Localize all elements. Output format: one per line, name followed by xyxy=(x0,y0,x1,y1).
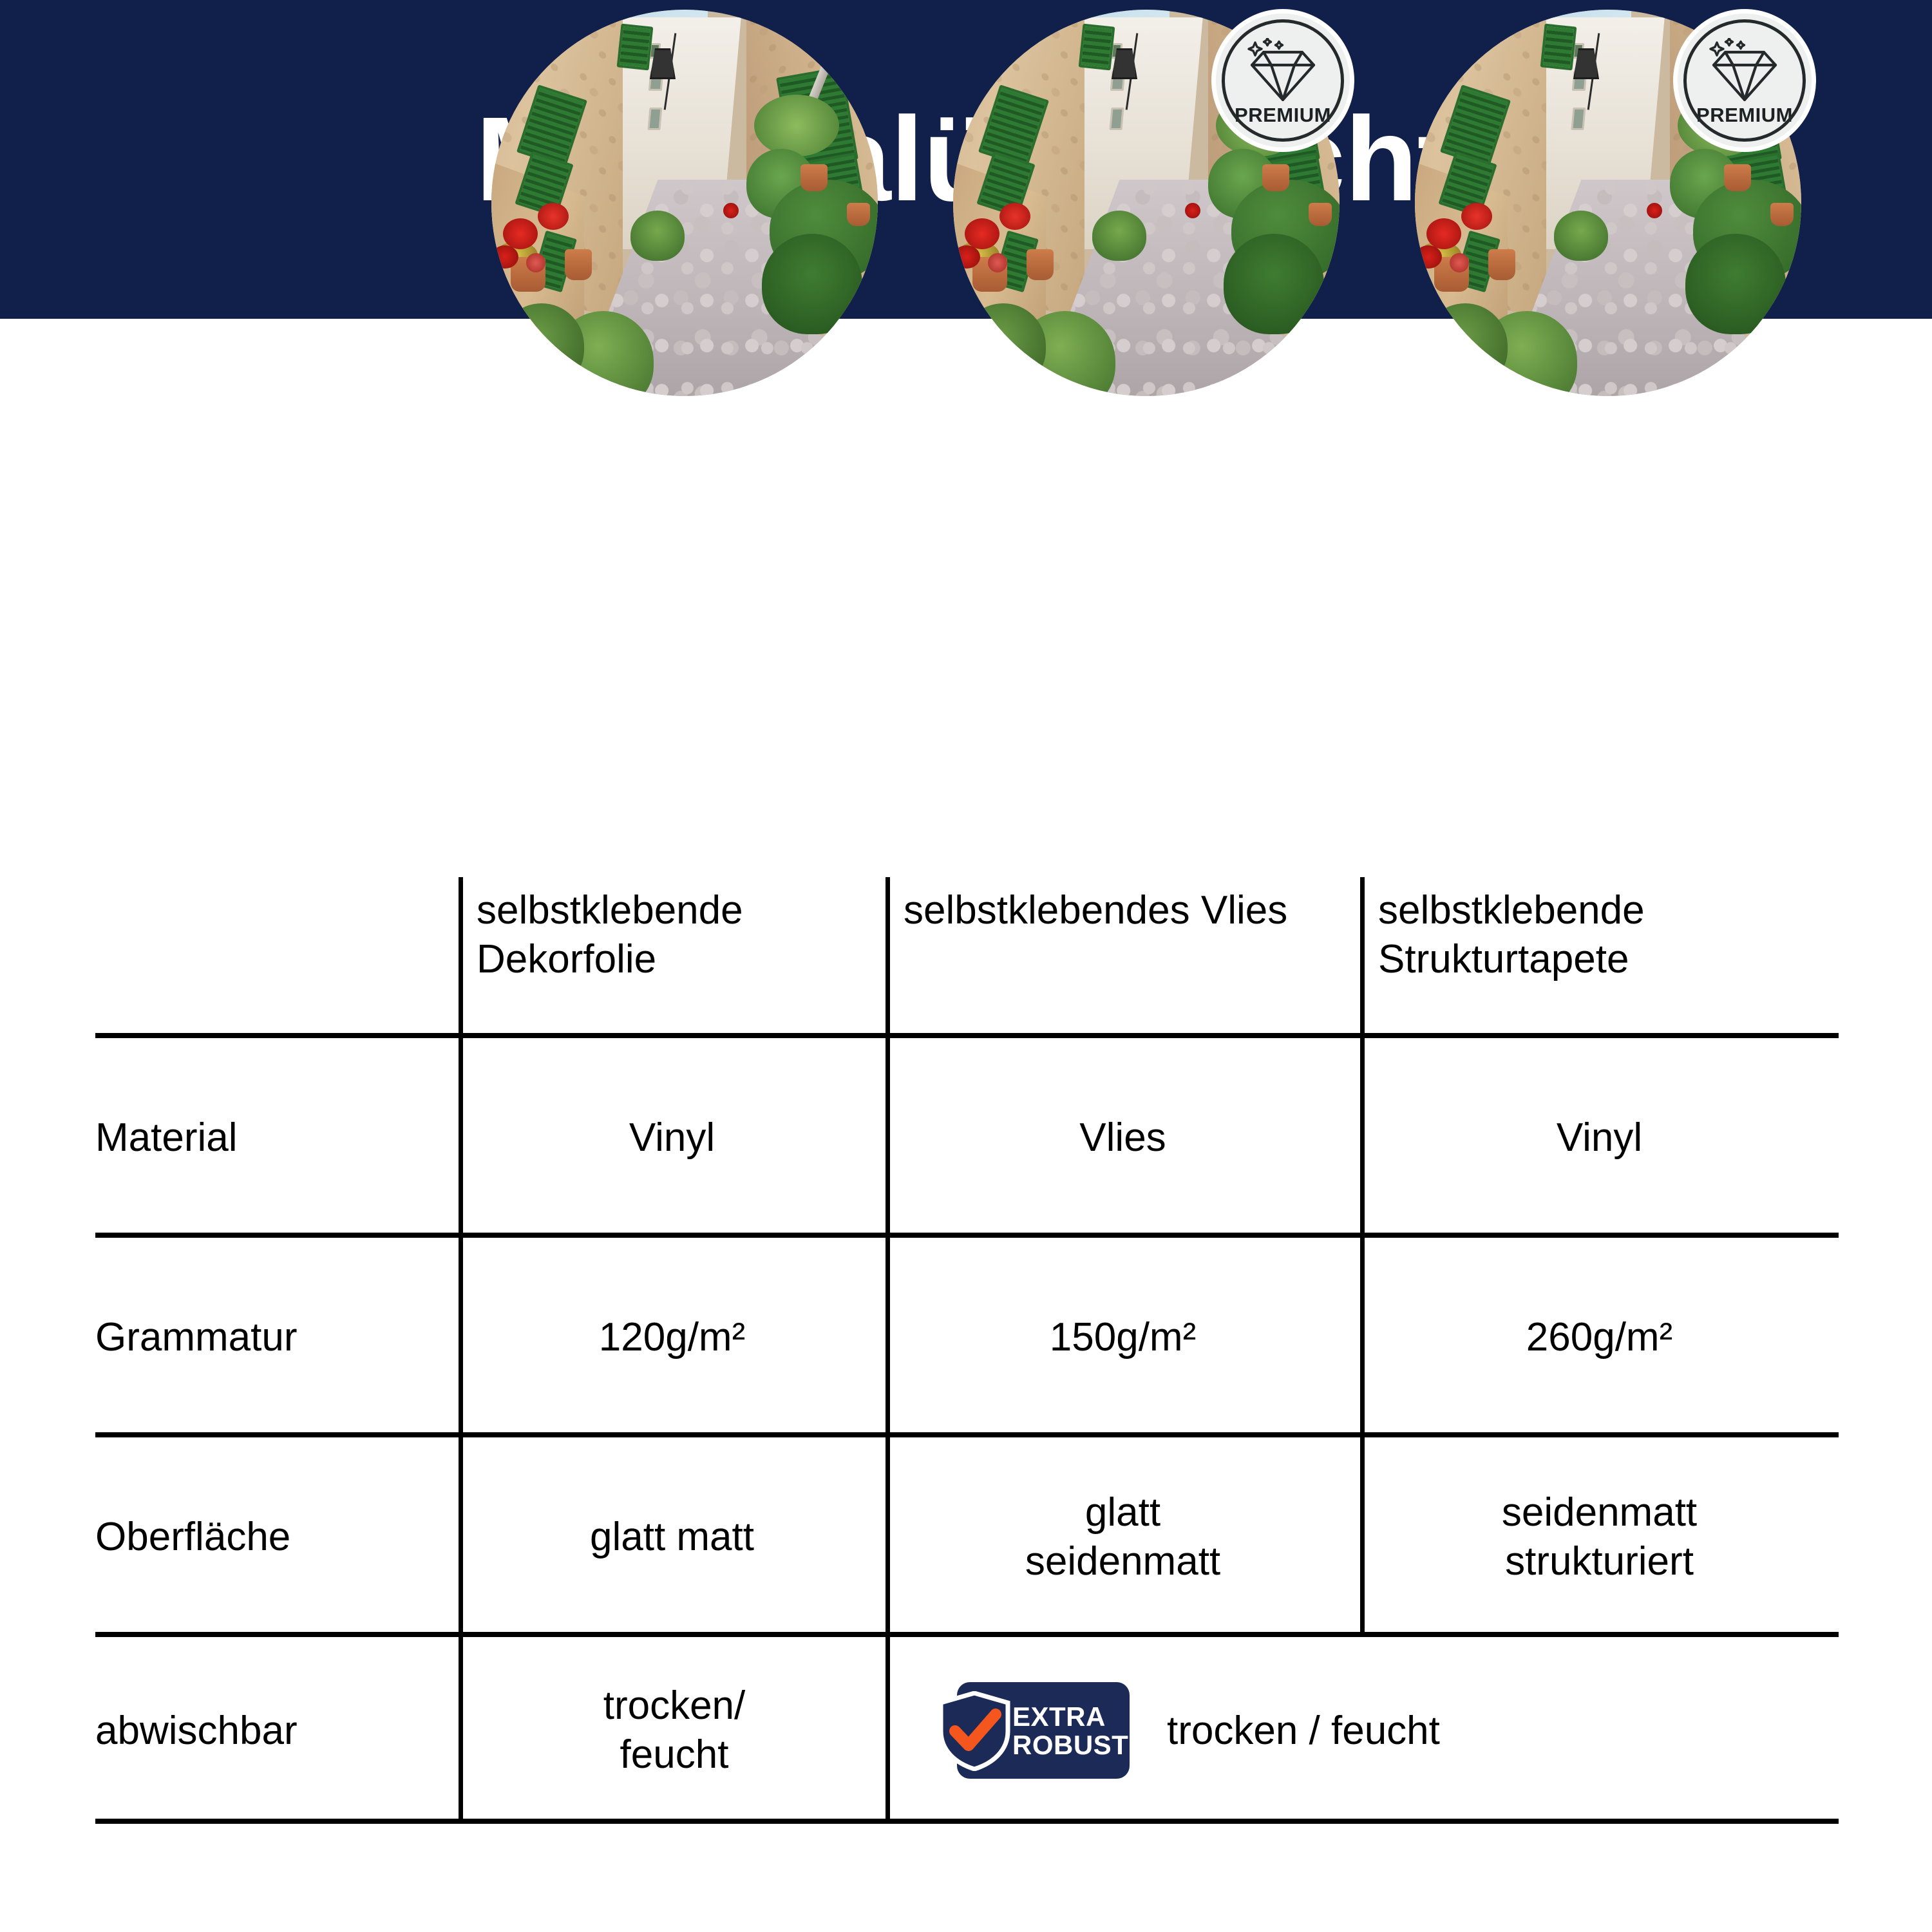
cell-grammatur-strukturtapete: 260g/m² xyxy=(1360,1238,1839,1437)
variant-preview-1[interactable] xyxy=(491,10,878,396)
cell-material-dekorfolie: Vinyl xyxy=(459,1038,885,1238)
column-divider xyxy=(885,877,890,1038)
plant xyxy=(762,234,862,334)
diamond-icon xyxy=(1244,38,1321,102)
red-flower xyxy=(988,253,1007,272)
extra-robust-line1: EXTRA xyxy=(1012,1703,1126,1731)
cell-oberflaeche-strukturtapete: seidenmattstrukturiert xyxy=(1360,1437,1839,1637)
plant xyxy=(1224,234,1324,334)
plant xyxy=(961,303,1046,388)
red-flower xyxy=(953,245,980,269)
column-divider xyxy=(459,1238,463,1437)
plant xyxy=(1685,234,1786,334)
column-header-strukturtapete: selbstklebende Strukturtapete xyxy=(1360,877,1839,1038)
cell-abwischbar-merged: EXTRA ROBUST trocken / feucht xyxy=(890,1637,1839,1824)
row-label-grammatur: Grammatur xyxy=(95,1238,459,1437)
red-flower xyxy=(965,218,999,249)
cell-abwischbar-dekorfolie: trocken/feucht xyxy=(463,1637,885,1824)
alleyway-photo-1 xyxy=(491,10,878,396)
plant xyxy=(1554,211,1608,261)
flower-pot xyxy=(847,203,870,226)
flower-pot xyxy=(1724,164,1751,191)
extra-robust-label: EXTRA ROBUST xyxy=(1012,1695,1126,1767)
window xyxy=(1110,108,1124,130)
material-comparison-table: selbstklebende Dekorfolie selbstklebende… xyxy=(95,877,1839,1824)
red-flower xyxy=(503,218,538,249)
table-row: Grammatur 120g/m² 150g/m² 260g/m² xyxy=(95,1238,1839,1437)
premium-badge-label: PREMIUM xyxy=(1235,104,1331,127)
red-flower xyxy=(1426,218,1461,249)
premium-badge-label: PREMIUM xyxy=(1696,104,1793,127)
flower-pot xyxy=(1027,249,1054,280)
column-divider xyxy=(459,1038,463,1238)
premium-badge: PREMIUM xyxy=(1216,14,1350,147)
shield-check-icon xyxy=(935,1691,1014,1771)
red-flower xyxy=(491,245,518,269)
column-divider xyxy=(1360,1238,1365,1437)
row-label-abwischbar: abwischbar xyxy=(95,1637,459,1824)
row-divider xyxy=(95,1233,1839,1238)
row-divider xyxy=(95,1632,1839,1637)
column-header-vlies: selbstklebendes Vlies xyxy=(885,877,1360,1038)
column-divider xyxy=(459,1637,463,1824)
material-overview-page: Materialübersicht xyxy=(0,0,1932,1932)
column-divider xyxy=(1360,877,1365,1038)
red-flower xyxy=(723,203,739,218)
green-shutter xyxy=(1540,24,1577,71)
plant xyxy=(499,303,584,388)
column-divider xyxy=(885,1038,890,1238)
window xyxy=(1571,108,1586,130)
column-divider xyxy=(459,1437,463,1637)
cell-oberflaeche-dekorfolie: glatt matt xyxy=(459,1437,885,1637)
cell-grammatur-vlies: 150g/m² xyxy=(885,1238,1360,1437)
extra-robust-badge: EXTRA ROBUST xyxy=(935,1682,1130,1779)
red-flower xyxy=(526,253,545,272)
plant xyxy=(1092,211,1146,261)
plant xyxy=(630,211,685,261)
flower-pot xyxy=(1309,203,1332,226)
flower-pot xyxy=(1262,164,1289,191)
table-row: Oberfläche glatt matt glattseidenmatt se… xyxy=(95,1437,1839,1637)
red-flower xyxy=(1450,253,1469,272)
table-row: Material Vinyl Vlies Vinyl xyxy=(95,1038,1839,1238)
plant xyxy=(1423,303,1508,388)
row-divider xyxy=(95,1033,1839,1038)
table-bottom-border xyxy=(95,1819,1839,1824)
cell-abwischbar-text: trocken / feucht xyxy=(1167,1708,1440,1754)
flower-pot xyxy=(565,249,592,280)
table-row: abwischbar trocken/feucht EXTRA ROBUST xyxy=(95,1637,1839,1824)
flower-pot xyxy=(800,164,828,191)
red-flower xyxy=(999,203,1030,230)
red-flower xyxy=(1185,203,1200,218)
table-header-row: selbstklebende Dekorfolie selbstklebende… xyxy=(95,877,1839,1038)
plant xyxy=(754,95,839,156)
table-corner-cell xyxy=(95,877,459,1038)
cell-material-strukturtapete: Vinyl xyxy=(1360,1038,1839,1238)
column-header-dekorfolie: selbstklebende Dekorfolie xyxy=(459,877,885,1038)
window xyxy=(648,108,663,130)
column-divider xyxy=(885,1637,890,1824)
extra-robust-line2: ROBUST xyxy=(1012,1731,1126,1759)
red-flower xyxy=(1415,245,1442,269)
flower-pot xyxy=(1770,203,1794,226)
variant-preview-3[interactable]: PREMIUM xyxy=(1415,10,1801,396)
red-flower xyxy=(538,203,569,230)
cell-material-vlies: Vlies xyxy=(885,1038,1360,1238)
cell-grammatur-dekorfolie: 120g/m² xyxy=(459,1238,885,1437)
row-label-material: Material xyxy=(95,1038,459,1238)
red-flower xyxy=(1461,203,1492,230)
diamond-icon xyxy=(1706,38,1783,102)
premium-badge: PREMIUM xyxy=(1678,14,1812,147)
column-divider xyxy=(885,1238,890,1437)
column-divider xyxy=(885,1437,890,1637)
cell-oberflaeche-vlies: glattseidenmatt xyxy=(885,1437,1360,1637)
variant-preview-strip: PREMIUM xyxy=(0,0,1932,412)
variant-preview-2[interactable]: PREMIUM xyxy=(953,10,1340,396)
row-divider xyxy=(95,1432,1839,1437)
column-divider xyxy=(1360,1437,1365,1637)
green-shutter xyxy=(1079,24,1115,71)
column-divider xyxy=(459,877,463,1038)
row-label-oberflaeche: Oberfläche xyxy=(95,1437,459,1637)
flower-pot xyxy=(1488,249,1515,280)
column-divider xyxy=(1360,1038,1365,1238)
red-flower xyxy=(1647,203,1662,218)
green-shutter xyxy=(617,24,654,71)
